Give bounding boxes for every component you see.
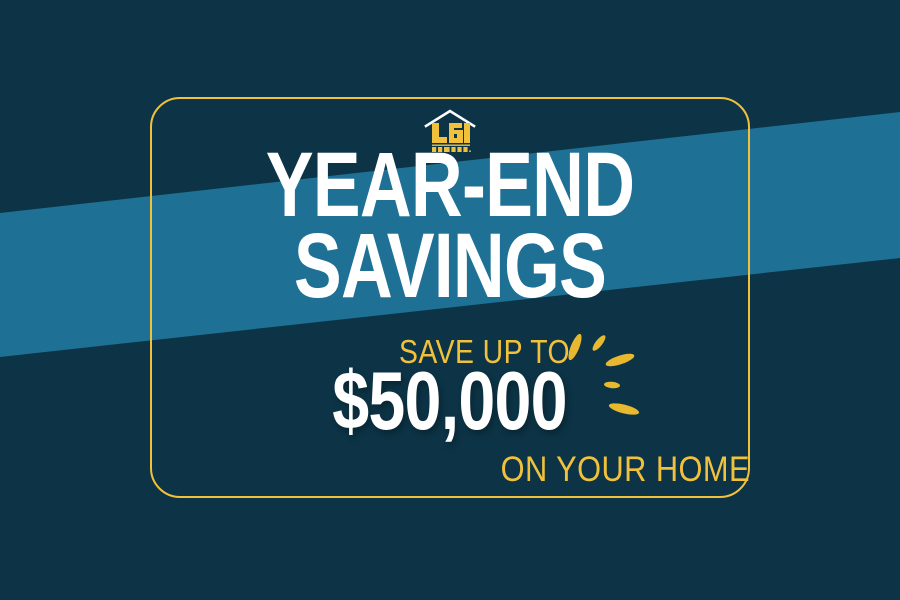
offer-amount-row: $50,000 (150, 359, 750, 442)
promo-content: YEAR-END SAVINGS SAVE UP TO $50,000 ON Y… (150, 97, 750, 498)
headline-line-1: YEAR-END (216, 145, 684, 226)
headline-line-2: SAVINGS (216, 226, 684, 307)
offer-subject: ON YOUR HOME (292, 452, 750, 487)
offer-amount: $50,000 (333, 359, 567, 442)
headline: YEAR-END SAVINGS (150, 145, 750, 307)
promo-banner: YEAR-END SAVINGS SAVE UP TO $50,000 ON Y… (0, 0, 900, 600)
